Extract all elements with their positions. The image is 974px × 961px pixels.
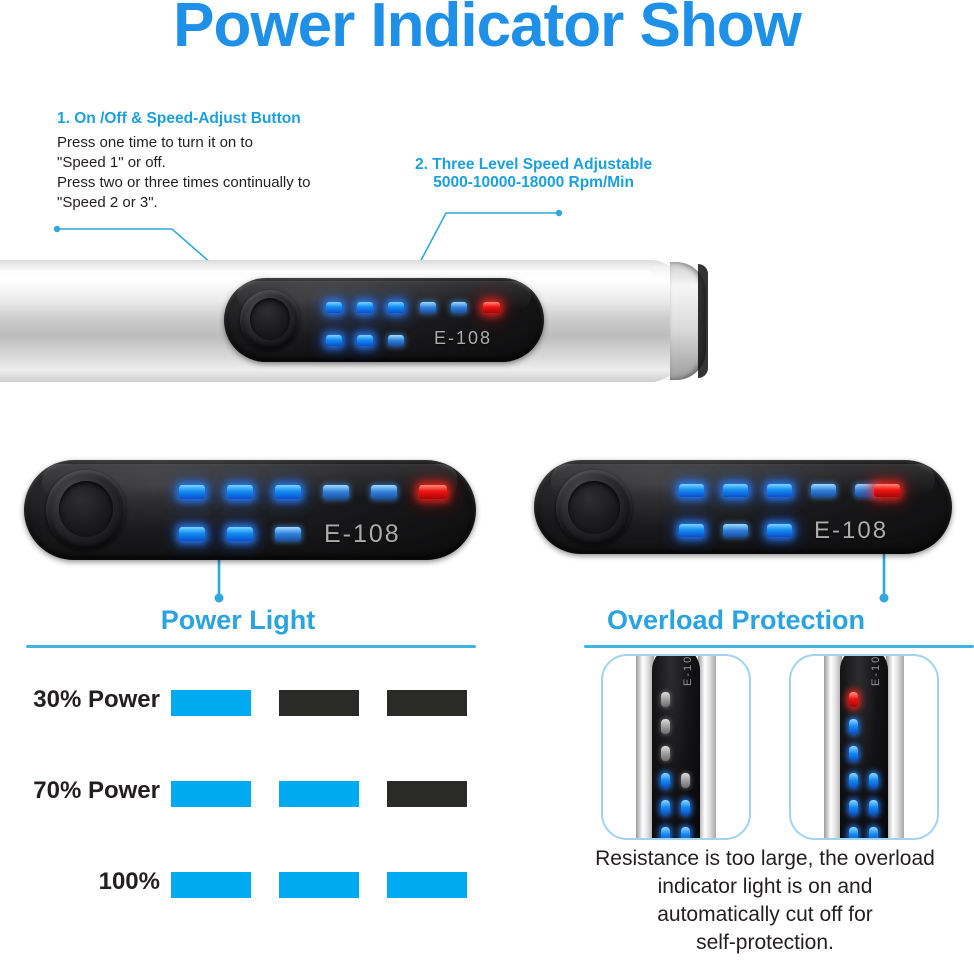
led-top-5 bbox=[451, 302, 467, 313]
led-top-1 bbox=[326, 302, 342, 313]
power-bar-2 bbox=[279, 781, 359, 807]
device-vertical-view: E-108 bbox=[828, 654, 900, 840]
callout-2-heading: 2. Three Level Speed Adjustable bbox=[415, 156, 652, 174]
leader-dot-button-start bbox=[54, 226, 60, 232]
led-overload-red bbox=[874, 484, 900, 497]
power-button-knob-left bbox=[46, 470, 126, 550]
power-bar-3 bbox=[387, 781, 467, 807]
led-top-1 bbox=[179, 485, 205, 499]
led-top-1 bbox=[679, 484, 704, 497]
tube-black-face: E-108 bbox=[840, 654, 888, 840]
led-bottom-1 bbox=[179, 527, 205, 541]
callout-1-line-2: "Speed 1" or off. bbox=[57, 153, 310, 173]
page-title: Power Indicator Show bbox=[0, 0, 974, 61]
vled-r6 bbox=[869, 827, 878, 840]
tube-black-face: E-108 bbox=[652, 654, 700, 840]
led-bottom-1 bbox=[326, 335, 342, 346]
led-bottom-2 bbox=[357, 335, 373, 346]
model-label: E-108 bbox=[870, 654, 882, 686]
vled-5 bbox=[849, 800, 858, 815]
overload-caption-line-2: indicator light is on and bbox=[556, 873, 974, 901]
vled-r5 bbox=[681, 800, 690, 815]
control-panel-power-light: E-108 bbox=[24, 460, 476, 560]
vled-5 bbox=[661, 800, 670, 815]
led-top-3 bbox=[275, 485, 301, 499]
vled-2 bbox=[661, 719, 670, 734]
overload-caption: Resistance is too large, the overload in… bbox=[556, 845, 974, 957]
vled-6 bbox=[661, 827, 670, 840]
model-label: E-108 bbox=[324, 520, 401, 549]
led-bottom-2 bbox=[723, 524, 748, 537]
callout-1-line-1: Press one time to turn it on to bbox=[57, 133, 310, 153]
vled-1 bbox=[661, 692, 670, 707]
vled-3 bbox=[661, 746, 670, 761]
led-top-3 bbox=[767, 484, 792, 497]
led-top-4 bbox=[420, 302, 436, 313]
vled-3 bbox=[849, 746, 858, 761]
table-row: 30% Power bbox=[0, 664, 500, 755]
power-row-label: 30% Power bbox=[0, 686, 160, 714]
overload-caption-line-3: automatically cut off for bbox=[556, 901, 974, 929]
control-panel-overload: E-108 bbox=[534, 460, 952, 554]
section-heading-power-light: Power Light bbox=[0, 605, 476, 636]
power-row-label: 100% bbox=[0, 868, 160, 896]
led-overload-red bbox=[483, 302, 500, 313]
power-bar-1 bbox=[171, 872, 251, 898]
led-bottom-2 bbox=[227, 527, 253, 541]
power-bar-1 bbox=[171, 781, 251, 807]
vled-4 bbox=[849, 773, 858, 788]
overload-caption-line-4: self-protection. bbox=[556, 929, 974, 957]
led-overload-red bbox=[419, 485, 447, 499]
led-top-4 bbox=[811, 484, 836, 497]
led-top-5 bbox=[371, 485, 397, 499]
model-label: E-108 bbox=[434, 328, 492, 349]
led-top-2 bbox=[357, 302, 373, 313]
power-bar-3 bbox=[387, 872, 467, 898]
led-bottom-1 bbox=[679, 524, 704, 537]
power-bar-2 bbox=[279, 690, 359, 716]
led-bottom-3 bbox=[275, 527, 301, 541]
power-button-knob-right bbox=[556, 470, 632, 546]
callout-speed-levels: 2. Three Level Speed Adjustable 5000-100… bbox=[415, 156, 652, 192]
table-row: 70% Power bbox=[0, 755, 500, 846]
leader-dot-power-light-bottom bbox=[215, 594, 224, 603]
pen-end-cap bbox=[670, 262, 706, 380]
led-bottom-3 bbox=[767, 524, 792, 537]
vled-r6 bbox=[681, 827, 690, 840]
led-top-4 bbox=[323, 485, 349, 499]
control-panel-main[interactable]: E-108 bbox=[224, 278, 544, 362]
overload-caption-line-1: Resistance is too large, the overload bbox=[556, 845, 974, 873]
led-top-3 bbox=[388, 302, 404, 313]
table-row: 100% bbox=[0, 846, 500, 937]
vled-r4 bbox=[869, 773, 878, 788]
divider-overload-protection bbox=[584, 645, 974, 648]
power-bar-3 bbox=[387, 690, 467, 716]
tube-metal-right bbox=[886, 654, 904, 840]
power-level-table: 30% Power 70% Power 100% bbox=[0, 664, 500, 937]
overload-photo-triggered: E-108 bbox=[789, 654, 939, 840]
section-heading-overload-protection: Overload Protection bbox=[498, 605, 974, 636]
callout-1-heading: 1. On /Off & Speed-Adjust Button bbox=[57, 110, 310, 128]
model-label: E-108 bbox=[682, 654, 694, 686]
led-top-2 bbox=[227, 485, 253, 499]
device-vertical-view: E-108 bbox=[640, 654, 712, 840]
vled-r5 bbox=[869, 800, 878, 815]
vled-4 bbox=[661, 773, 670, 788]
power-bar-2 bbox=[279, 872, 359, 898]
vled-6 bbox=[849, 827, 858, 840]
leader-dot-overload-bottom bbox=[880, 594, 889, 603]
vled-overload-red bbox=[849, 692, 858, 707]
callout-1-line-4: "Speed 2 or 3". bbox=[57, 193, 310, 213]
power-row-label: 70% Power bbox=[0, 777, 160, 805]
callout-2-subheading: 5000-10000-18000 Rpm/Min bbox=[415, 174, 652, 192]
callout-on-off-button: 1. On /Off & Speed-Adjust Button Press o… bbox=[57, 110, 310, 213]
power-button-knob[interactable] bbox=[240, 290, 300, 350]
overload-photo-normal: E-108 bbox=[601, 654, 751, 840]
led-bottom-3 bbox=[388, 335, 404, 346]
model-label: E-108 bbox=[814, 517, 888, 545]
leader-dot-speed-start bbox=[556, 210, 562, 216]
tube-metal-right bbox=[698, 654, 716, 840]
vled-r4 bbox=[681, 773, 690, 788]
power-bar-1 bbox=[171, 690, 251, 716]
callout-1-line-3: Press two or three times continually to bbox=[57, 173, 310, 193]
vled-2 bbox=[849, 719, 858, 734]
divider-power-light bbox=[26, 645, 476, 648]
led-top-2 bbox=[723, 484, 748, 497]
